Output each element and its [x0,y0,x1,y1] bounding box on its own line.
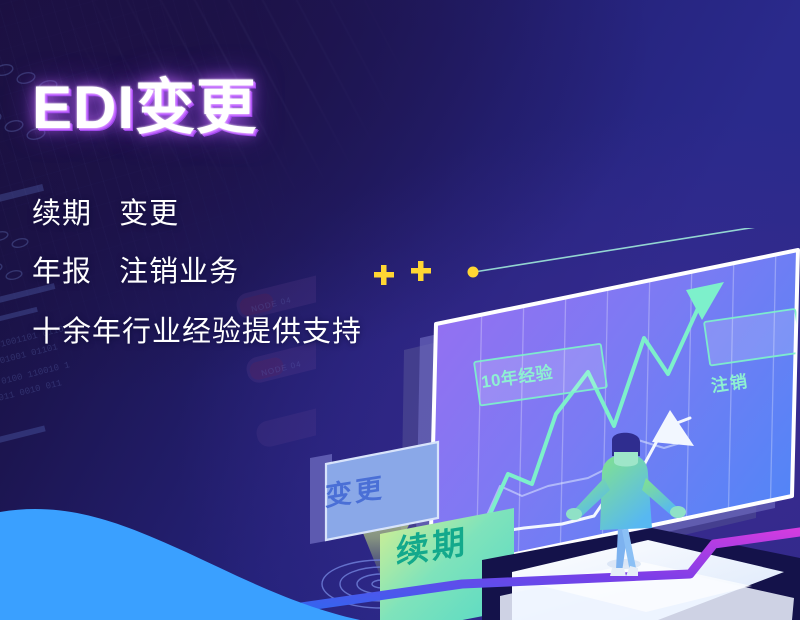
connector-dot [468,267,479,278]
svg-text:1011 0010 011: 1011 0010 011 [0,378,63,405]
svg-text:0100 110010 1: 0100 110010 1 [0,360,71,387]
plus-marks [374,261,431,285]
banner-subtitle-2: 年报 注销业务 [32,258,239,287]
banner-title: EDI变更 [32,78,257,138]
bottom-wave-decoration [0,460,360,620]
hero-illustration [286,228,800,620]
banner-subtitle-1: 续期 变更 [32,200,179,229]
promo-banner: 01001101 0110 1101001 01101 0100 110010 … [0,0,800,620]
